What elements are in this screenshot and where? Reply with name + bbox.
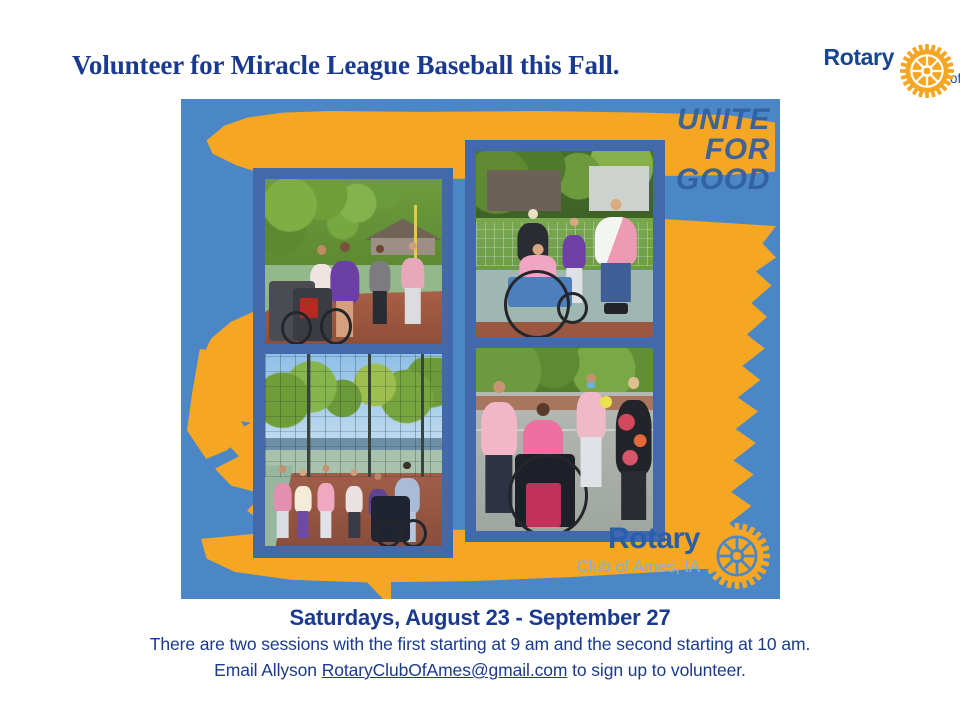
tagline-line-1: UNITE <box>676 105 770 135</box>
unite-for-good-tagline: UNITE FOR GOOD <box>676 105 770 195</box>
rotary-collage-wordmark: Rotary <box>608 523 700 555</box>
rotary-wordmark: Rotary <box>774 44 894 70</box>
session-times: There are two sessions with the first st… <box>0 632 960 657</box>
photo-collage: UNITE FOR GOOD Rotary Club of Ames, IA <box>181 99 780 599</box>
rotary-header-wordmark-group: Rotary <box>774 44 894 70</box>
rotary-collage-club-name: Club of Ames, IA <box>577 557 700 577</box>
contact-line: Email Allyson RotaryClubOfAmes@gmail.com… <box>0 658 960 683</box>
contact-suffix: to sign up to volunteer. <box>567 660 745 680</box>
collage-photo-4 <box>476 348 653 531</box>
rotary-wheel-icon <box>900 44 954 98</box>
photo-frame-right <box>465 140 665 542</box>
tagline-line-2: FOR <box>676 135 770 165</box>
event-dates: Saturdays, August 23 - September 27 <box>0 604 960 632</box>
rotary-wheel-icon <box>704 523 770 589</box>
rotary-collage-logo: Rotary Club of Ames, IA <box>552 519 772 593</box>
photo-frame-left <box>253 168 453 558</box>
footer-details: Saturdays, August 23 - September 27 Ther… <box>0 604 960 683</box>
collage-photo-1 <box>265 179 442 344</box>
collage-photo-3 <box>476 151 653 337</box>
contact-email-link[interactable]: RotaryClubOfAmes@gmail.com <box>322 660 568 680</box>
rotary-header-logo: Rotary Club of Ames, IA <box>788 44 956 106</box>
contact-prefix: Email Allyson <box>214 660 322 680</box>
page-title: Volunteer for Miracle League Baseball th… <box>72 50 619 81</box>
tagline-line-3: GOOD <box>676 165 770 195</box>
brush-stroke-right <box>664 219 776 569</box>
slide-canvas: Volunteer for Miracle League Baseball th… <box>0 0 960 720</box>
collage-photo-2 <box>265 354 442 546</box>
